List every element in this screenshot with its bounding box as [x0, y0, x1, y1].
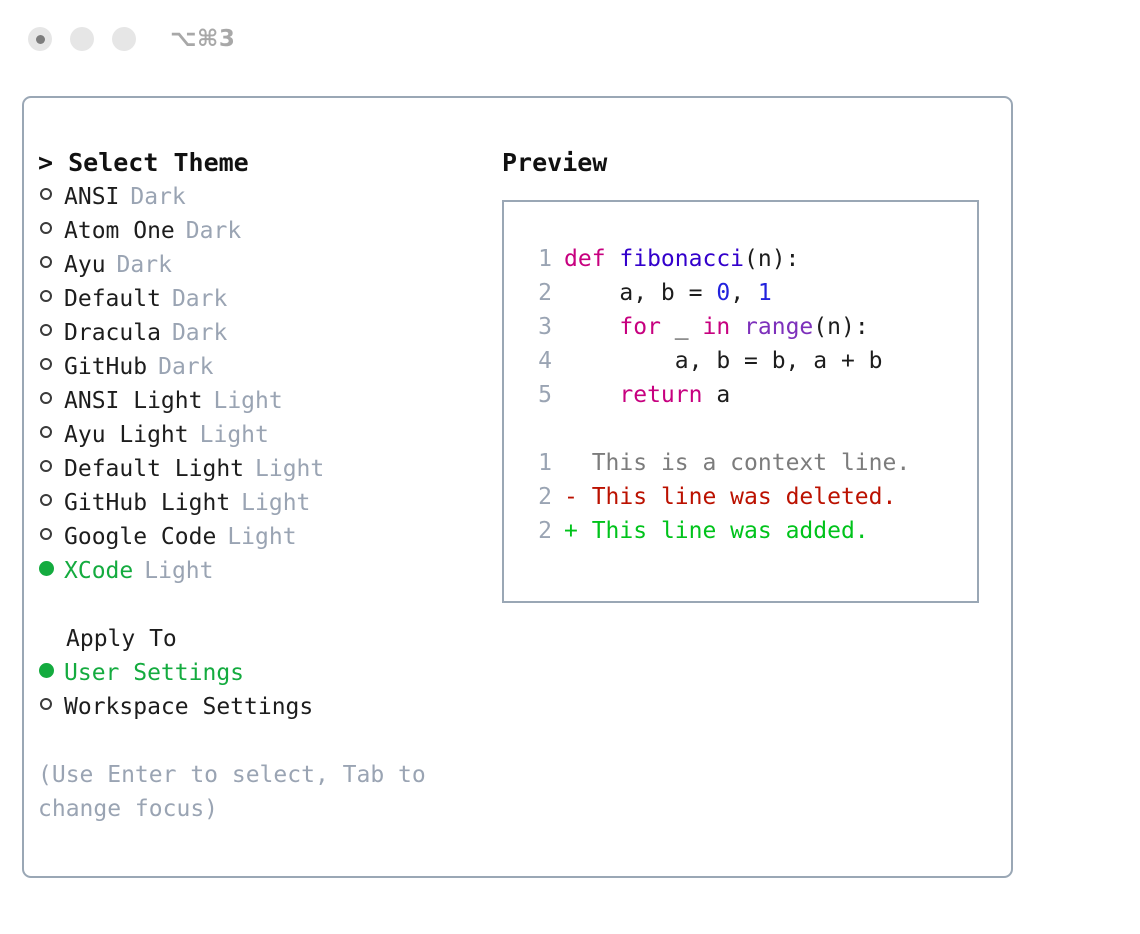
- theme-option-github[interactable]: GitHubDark: [38, 350, 478, 384]
- theme-option-default[interactable]: DefaultDark: [38, 282, 478, 316]
- window-title: ⌥⌘3: [170, 26, 235, 52]
- theme-option-google-code[interactable]: Google CodeLight: [38, 520, 478, 554]
- radio-mark: [40, 698, 52, 710]
- theme-option-variant: Light: [227, 520, 296, 554]
- theme-list[interactable]: ANSIDarkAtom OneDarkAyuDarkDefaultDarkDr…: [38, 180, 478, 588]
- theme-option-ayu-light[interactable]: Ayu LightLight: [38, 418, 478, 452]
- theme-option-label: XCode: [64, 554, 133, 588]
- main-panel: > Select Theme ANSIDarkAtom OneDarkAyuDa…: [22, 96, 1013, 878]
- radio-mark: [40, 256, 52, 268]
- diff-line-text: This is a context line.: [578, 446, 910, 480]
- theme-option-variant: Light: [144, 554, 213, 588]
- diff-line-text: This line was added.: [578, 514, 869, 548]
- minimize-button[interactable]: [70, 27, 94, 51]
- code-line: 4 a, b = b, a + b: [522, 344, 977, 378]
- theme-option-label: ANSI: [64, 180, 119, 214]
- theme-option-label: Ayu Light: [64, 418, 189, 452]
- radio-mark: [40, 290, 52, 302]
- code-line-content: return a: [564, 378, 730, 412]
- theme-option-variant: Dark: [186, 214, 241, 248]
- diff-line: 2- This line was deleted.: [522, 480, 977, 514]
- code-line: 3 for _ in range(n):: [522, 310, 977, 344]
- theme-option-variant: Dark: [158, 350, 213, 384]
- code-token-punct: (n):: [813, 314, 868, 340]
- radio-mark: [39, 561, 54, 576]
- preview-box: 1def fibonacci(n):2 a, b = 0, 13 for _ i…: [502, 200, 979, 603]
- code-line-content: def fibonacci(n):: [564, 242, 799, 276]
- code-token-num: 0: [716, 280, 730, 306]
- select-theme-heading: > Select Theme: [38, 146, 478, 180]
- theme-option-variant: Dark: [130, 180, 185, 214]
- line-number: 1: [522, 242, 552, 276]
- code-line-content: a, b = 0, 1: [564, 276, 772, 310]
- code-token-kw: in: [702, 314, 744, 340]
- diff-marker: -: [564, 480, 578, 514]
- theme-option-dracula[interactable]: DraculaDark: [38, 316, 478, 350]
- theme-option-ayu[interactable]: AyuDark: [38, 248, 478, 282]
- apply-to-option-label: User Settings: [64, 656, 244, 690]
- theme-option-atom-one[interactable]: Atom OneDark: [38, 214, 478, 248]
- code-token-kw: return: [564, 382, 716, 408]
- theme-option-default-light[interactable]: Default LightLight: [38, 452, 478, 486]
- diff-line: 1 This is a context line.: [522, 446, 977, 480]
- theme-option-label: Default: [64, 282, 161, 316]
- code-token-call: range: [744, 314, 813, 340]
- radio-mark: [40, 528, 52, 540]
- preview-column: Preview 1def fibonacci(n):2 a, b = 0, 13…: [502, 146, 1002, 603]
- line-number: 5: [522, 378, 552, 412]
- list-gap: [38, 588, 478, 622]
- radio-mark: [40, 222, 52, 234]
- code-token-fn: fibonacci: [619, 246, 744, 272]
- code-token-plain: a: [716, 382, 730, 408]
- theme-option-ansi-light[interactable]: ANSI LightLight: [38, 384, 478, 418]
- preview-heading: Preview: [502, 146, 1002, 180]
- code-token-plain: a, b =: [564, 280, 716, 306]
- code-token-kw: for: [564, 314, 675, 340]
- theme-option-github-light[interactable]: GitHub LightLight: [38, 486, 478, 520]
- theme-option-variant: Light: [200, 418, 269, 452]
- code-line: 2 a, b = 0, 1: [522, 276, 977, 310]
- line-number: 2: [522, 276, 552, 310]
- code-token-plain: a, b = b, a + b: [564, 348, 883, 374]
- keyboard-hint: (Use Enter to select, Tab to change focu…: [38, 758, 448, 826]
- line-number: 4: [522, 344, 552, 378]
- code-line-content: a, b = b, a + b: [564, 344, 883, 378]
- apply-to-option-workspace-settings[interactable]: Workspace Settings: [38, 690, 478, 724]
- code-line: 1def fibonacci(n):: [522, 242, 977, 276]
- line-number: 3: [522, 310, 552, 344]
- code-line: 5 return a: [522, 378, 977, 412]
- apply-to-heading: Apply To: [38, 622, 478, 656]
- theme-option-label: Google Code: [64, 520, 216, 554]
- theme-option-xcode[interactable]: XCodeLight: [38, 554, 478, 588]
- code-line-content: for _ in range(n):: [564, 310, 869, 344]
- theme-option-variant: Dark: [172, 282, 227, 316]
- radio-mark: [40, 358, 52, 370]
- code-token-num: 1: [758, 280, 772, 306]
- radio-mark: [40, 460, 52, 472]
- radio-mark: [40, 188, 52, 200]
- code-token-punct: (n):: [744, 246, 799, 272]
- code-sample: 1def fibonacci(n):2 a, b = 0, 13 for _ i…: [522, 242, 977, 412]
- theme-option-variant: Dark: [117, 248, 172, 282]
- code-diff-gap: [522, 412, 977, 446]
- apply-to-options[interactable]: User SettingsWorkspace Settings: [38, 656, 478, 724]
- close-button[interactable]: [28, 27, 52, 51]
- radio-mark: [40, 426, 52, 438]
- line-number: 2: [522, 480, 552, 514]
- code-token-kw: def: [564, 246, 619, 272]
- radio-mark: [40, 392, 52, 404]
- radio-mark: [39, 663, 54, 678]
- theme-option-variant: Light: [255, 452, 324, 486]
- theme-option-variant: Light: [241, 486, 310, 520]
- traffic-light-group: [28, 27, 136, 51]
- theme-option-label: Default Light: [64, 452, 244, 486]
- theme-option-label: Ayu: [64, 248, 106, 282]
- line-number: 1: [522, 446, 552, 480]
- maximize-button[interactable]: [112, 27, 136, 51]
- code-token-plain: ,: [730, 280, 758, 306]
- diff-marker: [564, 446, 578, 480]
- theme-option-label: Dracula: [64, 316, 161, 350]
- radio-mark: [40, 324, 52, 336]
- theme-option-label: ANSI Light: [64, 384, 202, 418]
- title-bar: ⌥⌘3: [0, 0, 1140, 78]
- theme-option-ansi[interactable]: ANSIDark: [38, 180, 478, 214]
- diff-line: 2+ This line was added.: [522, 514, 977, 548]
- diff-line-text: This line was deleted.: [578, 480, 897, 514]
- diff-marker: +: [564, 514, 578, 548]
- radio-mark: [40, 494, 52, 506]
- app-window: ⌥⌘3 > Select Theme ANSIDarkAtom OneDarkA…: [0, 0, 1140, 934]
- line-number: 2: [522, 514, 552, 548]
- diff-sample: 1 This is a context line.2- This line wa…: [522, 446, 977, 548]
- code-token-plain: _: [675, 314, 703, 340]
- apply-to-option-label: Workspace Settings: [64, 690, 313, 724]
- theme-option-label: GitHub Light: [64, 486, 230, 520]
- theme-option-variant: Light: [213, 384, 282, 418]
- theme-option-label: GitHub: [64, 350, 147, 384]
- apply-to-option-user-settings[interactable]: User Settings: [38, 656, 478, 690]
- theme-option-variant: Dark: [172, 316, 227, 350]
- theme-option-label: Atom One: [64, 214, 175, 248]
- theme-column: > Select Theme ANSIDarkAtom OneDarkAyuDa…: [38, 146, 478, 826]
